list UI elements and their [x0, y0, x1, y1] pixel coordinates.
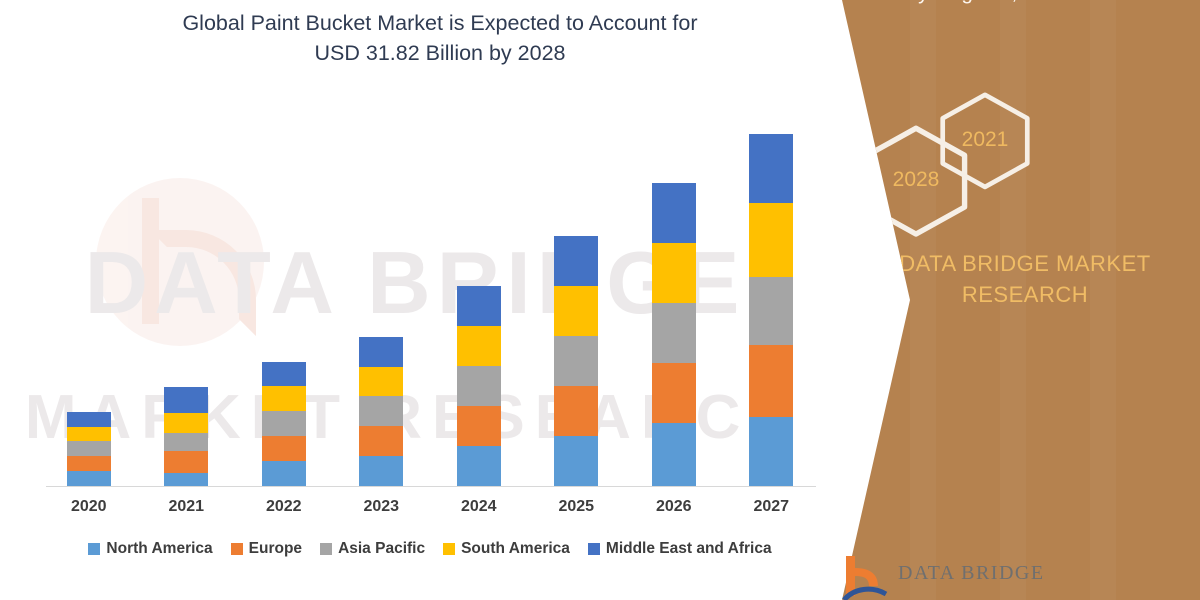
- legend-swatch: [88, 543, 100, 555]
- legend-item[interactable]: Europe: [231, 540, 302, 558]
- legend-item[interactable]: South America: [443, 540, 570, 558]
- bar-stack: [652, 183, 696, 486]
- bar-segment: [67, 471, 111, 486]
- bar-segment: [359, 367, 403, 396]
- x-axis-tick-label: 2023: [337, 498, 425, 516]
- bar-stack: [359, 337, 403, 486]
- bar-segment: [457, 326, 501, 366]
- bar-segment: [749, 134, 793, 203]
- bar-column: [45, 95, 133, 486]
- bar-segment: [164, 413, 208, 433]
- bar-segment: [262, 436, 306, 461]
- x-axis-tick-label: 2027: [727, 498, 815, 516]
- bar-segment: [457, 286, 501, 326]
- bar-segment: [652, 243, 696, 303]
- legend-item[interactable]: Asia Pacific: [320, 540, 425, 558]
- bar-segment: [652, 363, 696, 423]
- x-axis-tick-label: 2021: [142, 498, 230, 516]
- chart-title-line-2: USD 31.82 Billion by 2028: [60, 38, 820, 68]
- bar-column: [142, 95, 230, 486]
- legend-label: Asia Pacific: [338, 540, 425, 558]
- bar-column: [532, 95, 620, 486]
- legend-swatch: [320, 543, 332, 555]
- footer-logo-text: DATA BRIDGE: [898, 562, 1045, 585]
- bar-segment: [164, 433, 208, 451]
- legend-label: North America: [106, 540, 212, 558]
- bar-segment: [554, 286, 598, 336]
- hexagon-2021: 2021: [938, 92, 1032, 188]
- bar-stack: [457, 286, 501, 486]
- panel-heading: By Regions, 2021 to 2028: [850, 0, 1200, 8]
- legend-label: Middle East and Africa: [606, 540, 772, 558]
- bar-segment: [457, 366, 501, 406]
- bar-segment: [359, 426, 403, 456]
- bar-segment: [554, 236, 598, 286]
- bar-column: [240, 95, 328, 486]
- legend-swatch: [231, 543, 243, 555]
- bar-segment: [749, 277, 793, 345]
- bar-segment: [164, 387, 208, 413]
- hexagon-2028-label: 2028: [893, 168, 940, 192]
- chart-title-line-1: Global Paint Bucket Market is Expected t…: [60, 8, 820, 38]
- bar-stack: [262, 362, 306, 486]
- x-axis-tick-label: 2020: [45, 498, 133, 516]
- bar-segment: [67, 427, 111, 441]
- chart-canvas: DATA BRIDGE MARKET RESEARCH Global Paint…: [0, 0, 1200, 600]
- right-info-panel: By Regions, 2021 to 2028 2028 2021 DATA …: [790, 0, 1200, 600]
- footer-logo: DATA BRIDGE: [840, 552, 1100, 600]
- bar-segment: [67, 441, 111, 456]
- legend-item[interactable]: Middle East and Africa: [588, 540, 772, 558]
- x-axis-tick-label: 2025: [532, 498, 620, 516]
- bar-group: [40, 95, 820, 486]
- bar-segment: [359, 456, 403, 486]
- chart-legend: North AmericaEuropeAsia PacificSouth Ame…: [40, 540, 820, 558]
- legend-item[interactable]: North America: [88, 540, 212, 558]
- bar-stack: [67, 412, 111, 486]
- bar-segment: [554, 336, 598, 386]
- brand-name-line-1: DATA BRIDGE MARKET: [850, 248, 1200, 279]
- bar-segment: [749, 417, 793, 486]
- bar-segment: [359, 396, 403, 426]
- brand-name-line-2: RESEARCH: [850, 279, 1200, 310]
- bar-segment: [554, 436, 598, 486]
- brand-name: DATA BRIDGE MARKET RESEARCH: [850, 248, 1200, 310]
- bar-segment: [359, 337, 403, 367]
- bar-segment: [262, 386, 306, 411]
- bar-column: [435, 95, 523, 486]
- data-bridge-logo-icon: [842, 556, 888, 600]
- bar-segment: [457, 406, 501, 446]
- x-axis-line: [46, 486, 816, 487]
- hexagon-2021-label: 2021: [962, 128, 1009, 152]
- bar-segment: [164, 451, 208, 473]
- bar-segment: [262, 461, 306, 486]
- bar-stack: [554, 236, 598, 486]
- bar-stack: [749, 134, 793, 486]
- bar-column: [630, 95, 718, 486]
- hexagon-group: 2028 2021: [850, 95, 1200, 235]
- bar-column: [337, 95, 425, 486]
- x-axis-tick-label: 2026: [630, 498, 718, 516]
- bar-stack: [164, 387, 208, 486]
- x-axis-tick-label: 2024: [435, 498, 523, 516]
- x-axis-tick-label: 2022: [240, 498, 328, 516]
- bar-segment: [554, 386, 598, 436]
- x-axis-labels: 20202021202220232024202520262027: [40, 498, 820, 516]
- legend-label: South America: [461, 540, 570, 558]
- bar-segment: [262, 411, 306, 436]
- legend-swatch: [588, 543, 600, 555]
- bar-segment: [749, 345, 793, 417]
- legend-label: Europe: [249, 540, 302, 558]
- bar-segment: [457, 446, 501, 486]
- bar-column: [727, 95, 815, 486]
- bar-segment: [164, 473, 208, 486]
- chart-title: Global Paint Bucket Market is Expected t…: [60, 8, 820, 68]
- bar-segment: [262, 362, 306, 386]
- bar-segment: [67, 456, 111, 471]
- bar-segment: [652, 183, 696, 243]
- plot-area: [40, 95, 820, 487]
- bar-segment: [749, 203, 793, 277]
- bar-segment: [652, 303, 696, 363]
- bar-segment: [67, 412, 111, 427]
- bar-segment: [652, 423, 696, 486]
- legend-swatch: [443, 543, 455, 555]
